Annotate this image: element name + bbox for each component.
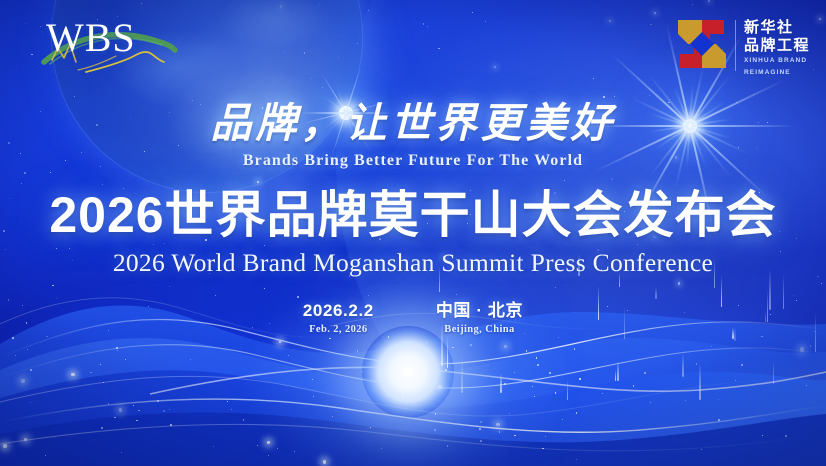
xinhua-name-cn-1: 新华社 — [744, 19, 810, 37]
slogan-en: Brands Bring Better Future For The World — [0, 152, 826, 170]
xinhua-mark-icon — [676, 18, 728, 70]
wbs-wordmark: WBS — [46, 18, 136, 58]
slogan-cn: 品牌，让世界更美好 — [0, 103, 826, 144]
event-date-cn: 2026.2.2 — [303, 301, 374, 321]
event-location-en: Beijing, China — [444, 324, 514, 337]
xinhua-brand-logo[interactable]: 新华社 品牌工程 XINHUA BRAND REIMAGINE — [676, 18, 810, 77]
wbs-logo[interactable]: WBS — [34, 14, 179, 76]
rising-sun-icon — [362, 326, 454, 418]
xinhua-name-cn-2: 品牌工程 — [744, 37, 810, 55]
event-location: 中国 · 北京 Beijing, China — [436, 301, 523, 337]
xinhua-name-en-2: REIMAGINE — [744, 68, 810, 77]
event-date-en: Feb. 2, 2026 — [309, 324, 367, 337]
xinhua-logo-text: 新华社 品牌工程 XINHUA BRAND REIMAGINE — [744, 18, 810, 77]
event-meta: 2026.2.2 Feb. 2, 2026 中国 · 北京 Beijing, C… — [0, 301, 826, 337]
event-title-cn: 2026世界品牌莫干山大会发布会 — [0, 189, 826, 242]
event-location-cn: 中国 · 北京 — [436, 301, 523, 321]
poster-canvas: WBS 新华社 品牌工程 XINHUA BRAND REIMAGINE 品牌，让… — [0, 0, 826, 466]
event-date: 2026.2.2 Feb. 2, 2026 — [303, 301, 374, 337]
xinhua-name-en-1: XINHUA BRAND — [744, 56, 810, 65]
event-title-en: 2026 World Brand Moganshan Summit Press … — [0, 249, 826, 277]
logo-divider — [735, 20, 736, 71]
